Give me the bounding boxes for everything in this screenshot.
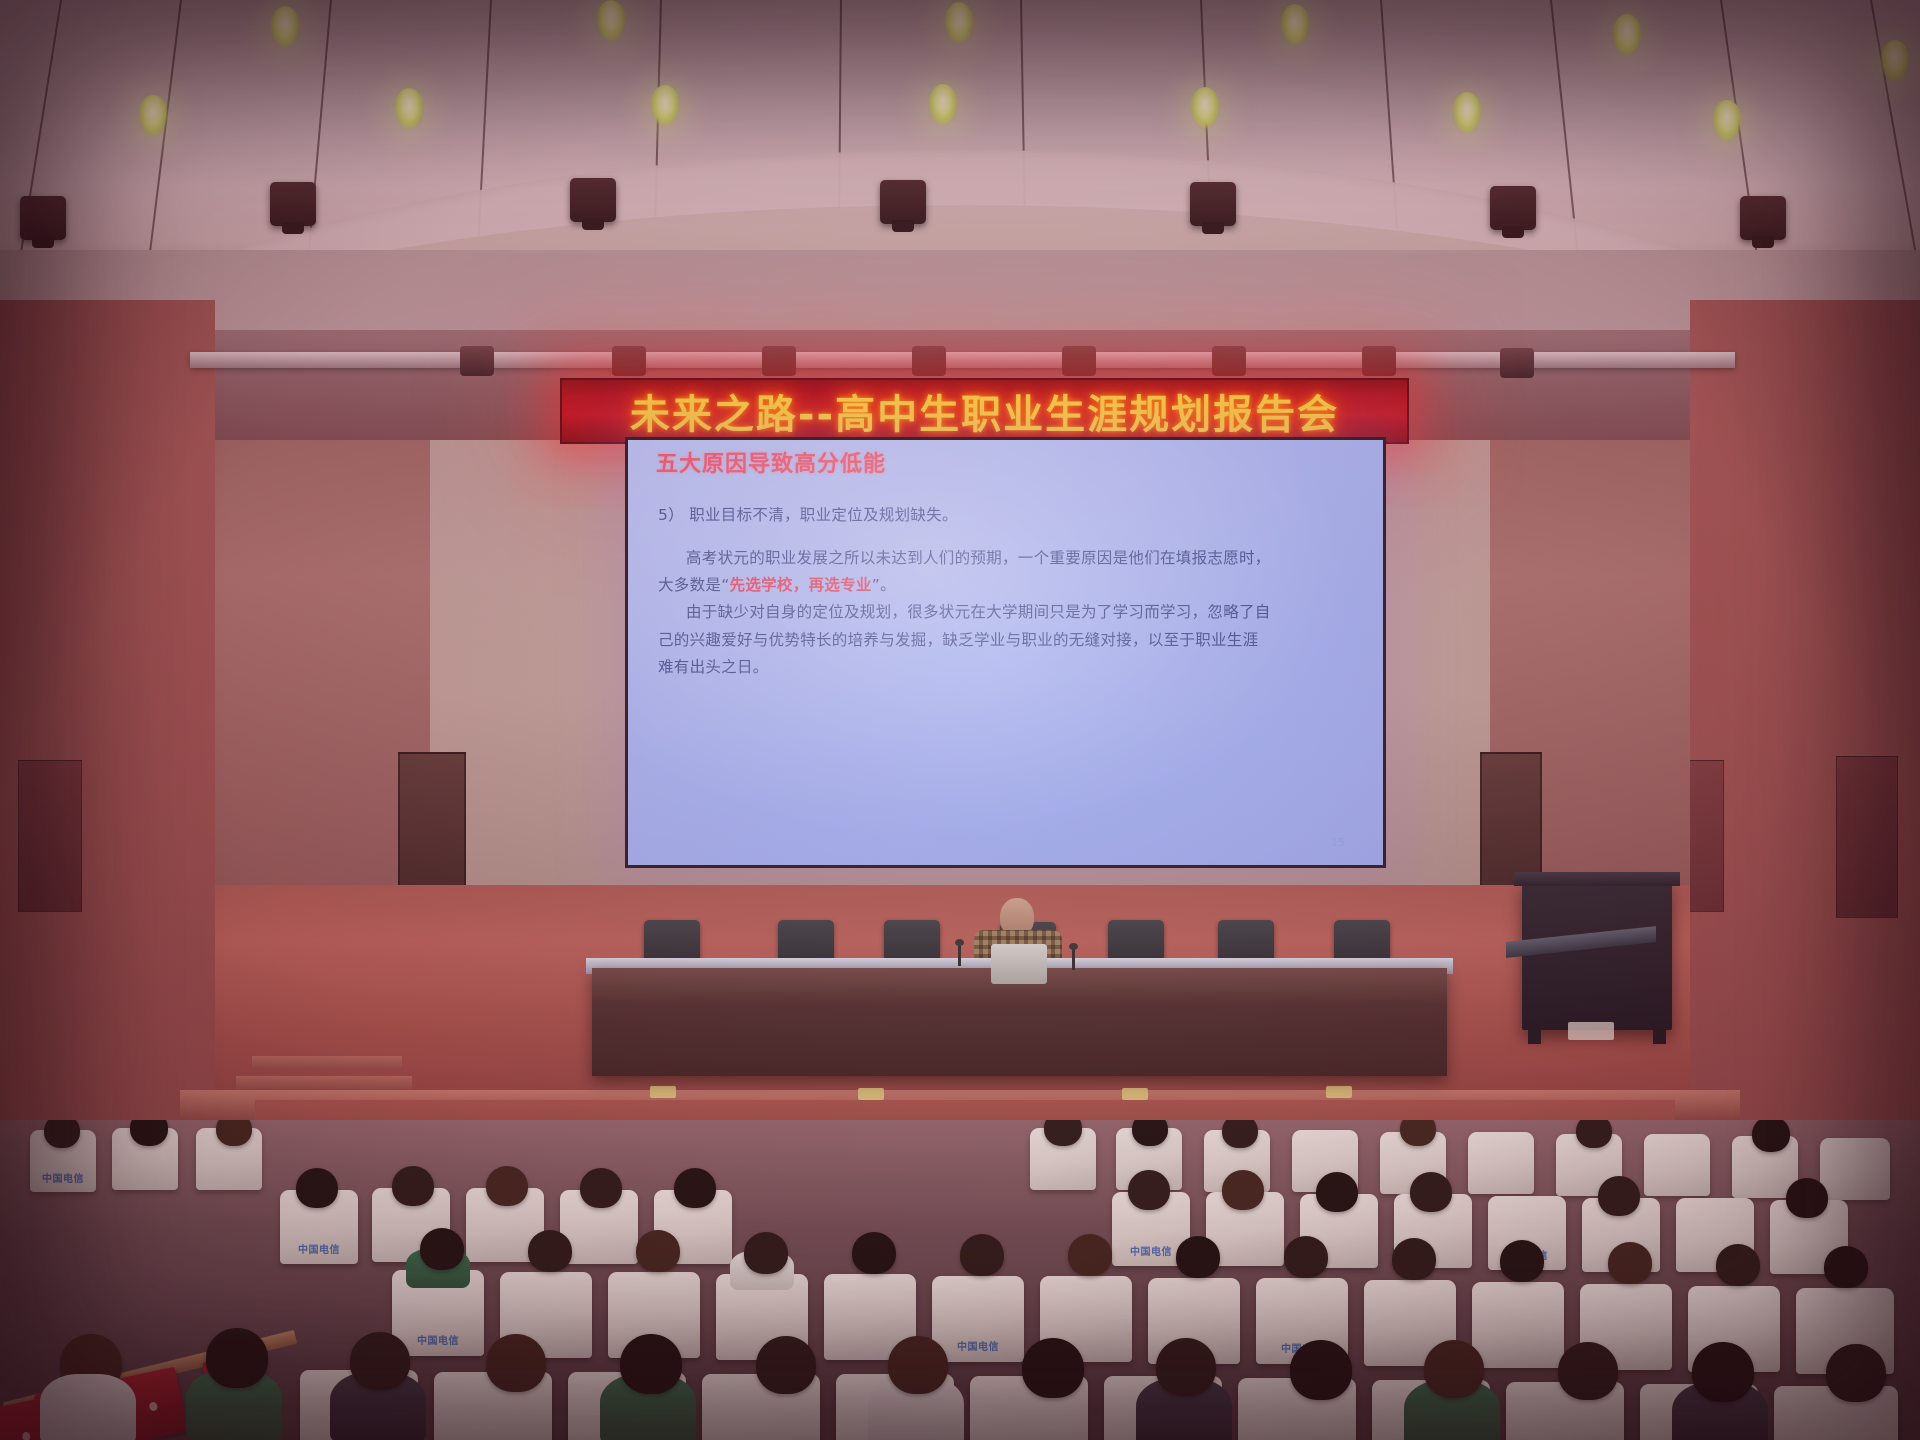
audience-head bbox=[1598, 1176, 1640, 1216]
piano-keyboard bbox=[1506, 926, 1656, 958]
slide-page-number: 15 bbox=[1331, 836, 1345, 849]
ceiling-downlight bbox=[138, 95, 168, 137]
footlight bbox=[650, 1086, 676, 1098]
audience-head bbox=[756, 1336, 816, 1394]
audience-head bbox=[1716, 1244, 1760, 1286]
audience-head bbox=[1608, 1242, 1652, 1284]
audience-head bbox=[1692, 1342, 1754, 1402]
audience-head bbox=[1824, 1246, 1868, 1288]
audience-head bbox=[486, 1334, 546, 1392]
head-table bbox=[592, 968, 1447, 1076]
truss-light bbox=[612, 346, 646, 376]
audience-seat bbox=[1820, 1138, 1890, 1200]
slide-highlight: 先选学校，再选专业 bbox=[730, 576, 872, 594]
truss-light bbox=[762, 346, 796, 376]
slide-bullet: 5） 职业目标不清，职业定位及规划缺失。 bbox=[658, 502, 1361, 529]
led-banner: 未来之路--高中生职业生涯规划报告会 bbox=[560, 378, 1409, 444]
audience-seat bbox=[1468, 1132, 1534, 1194]
seat-cover-logo: 中国电信 bbox=[417, 1332, 459, 1347]
footlight bbox=[858, 1088, 884, 1100]
ceiling-downlight bbox=[596, 0, 626, 42]
slide-body: 5） 职业目标不清，职业定位及规划缺失。 高考状元的职业发展之所以未达到人们的预… bbox=[658, 502, 1361, 681]
footlight bbox=[1326, 1086, 1352, 1098]
audience-head bbox=[674, 1168, 716, 1208]
audience-head bbox=[1222, 1120, 1258, 1148]
truss-light bbox=[460, 346, 494, 376]
audience-head bbox=[1176, 1236, 1220, 1278]
audience-head bbox=[392, 1166, 434, 1206]
stage-spotlight bbox=[570, 178, 616, 222]
audience-head bbox=[744, 1232, 788, 1274]
audience-head bbox=[216, 1120, 252, 1146]
audience-head bbox=[528, 1230, 572, 1272]
auditorium-photo: 未来之路--高中生职业生涯规划报告会 五大原因导致高分低能 5） 职业目标不清，… bbox=[0, 0, 1920, 1440]
audience-head bbox=[350, 1332, 410, 1390]
stage-spotlight bbox=[1190, 182, 1236, 226]
audience-head bbox=[1132, 1120, 1168, 1146]
ceiling-downlight bbox=[1612, 14, 1642, 56]
audience-head bbox=[206, 1328, 268, 1388]
audience-seat: 中国电信 bbox=[932, 1276, 1024, 1362]
seat-cover-logo: 中国电信 bbox=[42, 1170, 84, 1185]
side-wall-right bbox=[1690, 300, 1920, 1180]
stage-step-left bbox=[252, 1056, 402, 1070]
audience-head bbox=[636, 1230, 680, 1272]
microphone bbox=[1072, 948, 1075, 970]
slide-title: 五大原因导致高分低能 bbox=[656, 446, 886, 478]
audience-head bbox=[1022, 1338, 1084, 1398]
audience-head bbox=[1068, 1234, 1112, 1276]
slide-p1-line2: 大多数是“先选学校，再选专业”。 bbox=[658, 572, 1361, 599]
seat-cover-logo: 中国电信 bbox=[957, 1338, 999, 1353]
stage-spotlight bbox=[20, 196, 66, 240]
ceiling-downlight bbox=[270, 6, 300, 48]
audience-head bbox=[1752, 1120, 1790, 1152]
ceiling-downlight bbox=[1880, 40, 1910, 82]
audience-head bbox=[1826, 1344, 1886, 1402]
audience-head bbox=[1410, 1172, 1452, 1212]
stage-step-left-2 bbox=[236, 1076, 412, 1090]
audience-head bbox=[296, 1168, 338, 1208]
microphone bbox=[958, 944, 961, 966]
audience-head bbox=[1400, 1120, 1436, 1146]
ceiling-downlight bbox=[944, 2, 974, 44]
ceiling-downlight bbox=[1280, 4, 1310, 46]
side-wall-left bbox=[0, 300, 215, 1180]
audience-head bbox=[620, 1334, 682, 1394]
ceiling-downlight bbox=[394, 88, 424, 130]
wall-panel-right-2 bbox=[1836, 756, 1898, 918]
stage-spotlight bbox=[880, 180, 926, 224]
audience-head bbox=[1392, 1238, 1436, 1280]
audience-head bbox=[1576, 1120, 1612, 1148]
footlight bbox=[1122, 1088, 1148, 1100]
truss-light bbox=[1212, 346, 1246, 376]
audience-head bbox=[1290, 1340, 1352, 1400]
led-banner-text: 未来之路--高中生职业生涯规划报告会 bbox=[630, 382, 1339, 440]
wall-panel-left bbox=[18, 760, 82, 912]
audience-head bbox=[1284, 1236, 1328, 1278]
audience-seat bbox=[1472, 1282, 1564, 1368]
truss-light bbox=[1500, 348, 1534, 378]
truss-light bbox=[912, 346, 946, 376]
audience-head bbox=[1500, 1240, 1544, 1282]
audience-head bbox=[580, 1168, 622, 1208]
audience-head bbox=[1156, 1338, 1216, 1396]
laptop bbox=[991, 944, 1047, 984]
seat-cover-logo: 中国电信 bbox=[1130, 1243, 1172, 1258]
audience-head bbox=[1424, 1340, 1484, 1398]
audience-head bbox=[486, 1166, 528, 1206]
audience-head bbox=[44, 1120, 80, 1148]
truss-light bbox=[1062, 346, 1096, 376]
audience-head bbox=[1558, 1342, 1618, 1400]
ceiling-downlight bbox=[1452, 92, 1482, 134]
audience-head bbox=[1316, 1172, 1358, 1212]
seat-cover-logo: 中国电信 bbox=[298, 1241, 340, 1256]
stage-spotlight bbox=[1490, 186, 1536, 230]
stage-spotlight bbox=[1740, 196, 1786, 240]
projection-screen: 五大原因导致高分低能 5） 职业目标不清，职业定位及规划缺失。 高考状元的职业发… bbox=[625, 437, 1386, 868]
slide-p2-line1: 由于缺少对自身的定位及规划，很多状元在大学期间只是为了学习而学习，忽略了自 bbox=[658, 599, 1361, 626]
audience-head bbox=[852, 1232, 896, 1274]
stage-spotlight bbox=[270, 182, 316, 226]
audience-head bbox=[888, 1336, 948, 1394]
audience-head bbox=[1222, 1170, 1264, 1210]
ceiling-downlight bbox=[650, 85, 680, 127]
ceiling-downlight bbox=[1190, 87, 1220, 129]
slide-p2-line3: 难有出头之日。 bbox=[658, 654, 1361, 681]
audience-seat bbox=[1644, 1134, 1710, 1196]
truss-light bbox=[1362, 346, 1396, 376]
ceiling-downlight bbox=[1712, 100, 1742, 142]
slide-p1-line1: 高考状元的职业发展之所以未达到人们的预期，一个重要原因是他们在填报志愿时， bbox=[658, 545, 1361, 572]
audience-area: 中国电信 中国电信 中国电信 中国电信 bbox=[0, 1120, 1920, 1440]
audience-shoulders bbox=[40, 1374, 136, 1440]
upright-piano bbox=[1522, 882, 1672, 1030]
ceiling-downlight bbox=[928, 84, 958, 126]
piano-bench bbox=[1568, 1022, 1614, 1040]
audience-head bbox=[960, 1234, 1004, 1276]
audience-head bbox=[1786, 1178, 1828, 1218]
audience-head bbox=[1128, 1170, 1170, 1210]
slide-p2-line2: 己的兴趣爱好与优势特长的培养与发掘，缺乏学业与职业的无缝对接，以至于职业生涯 bbox=[658, 627, 1361, 654]
audience-head bbox=[420, 1228, 464, 1270]
